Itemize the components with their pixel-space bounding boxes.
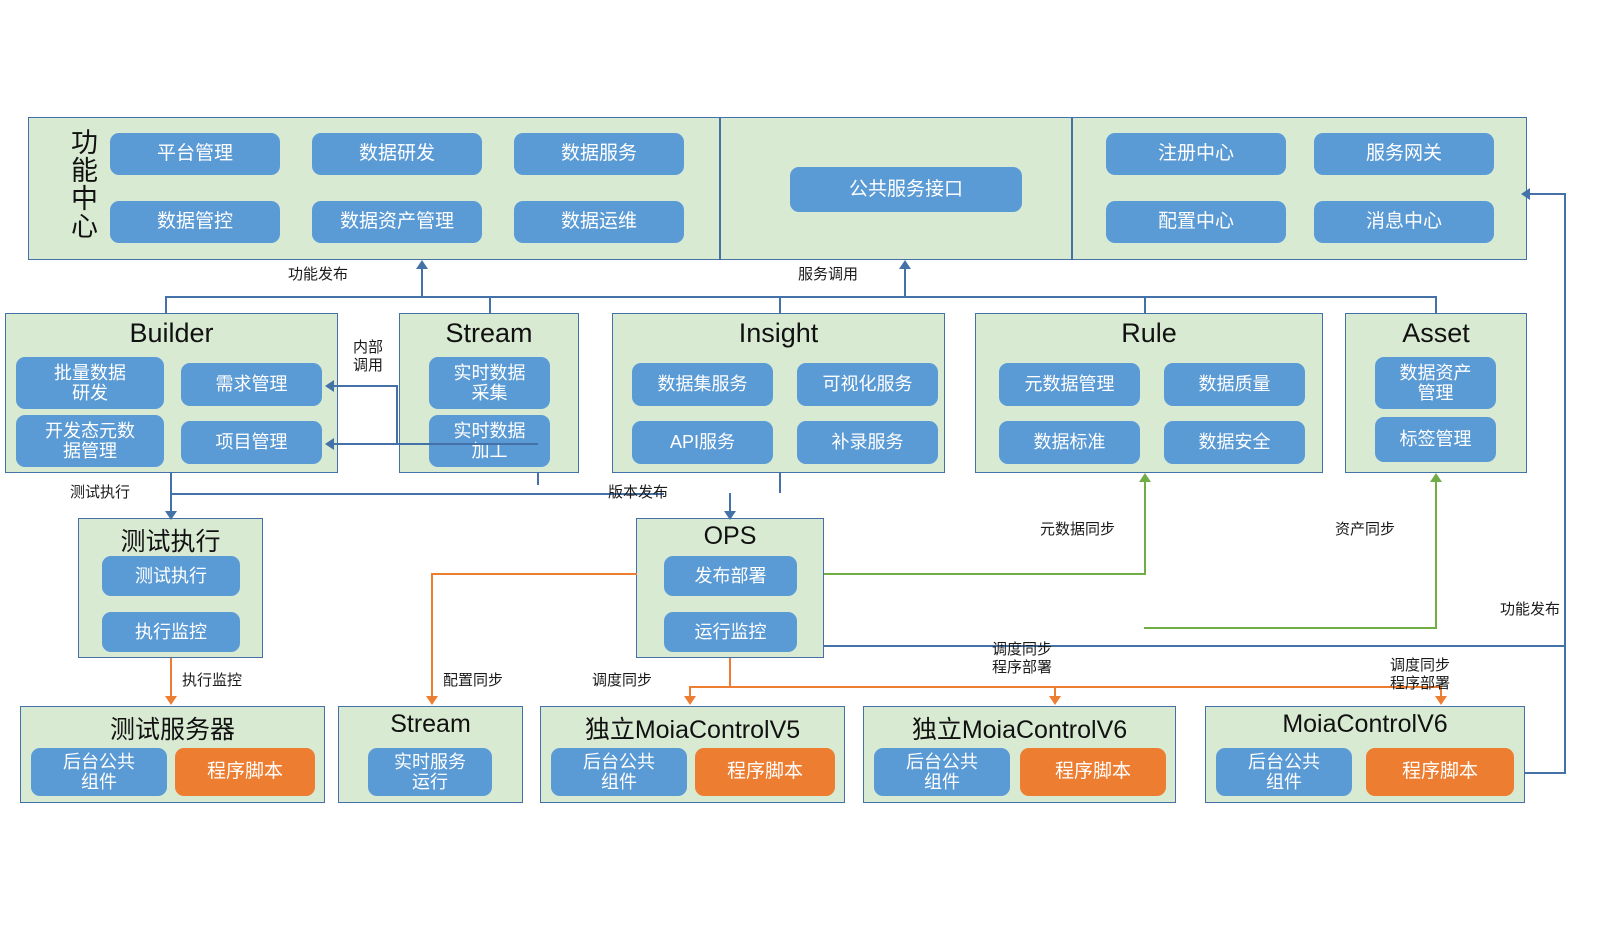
- edge-label-metadata-sync: 元数据同步: [1040, 521, 1115, 539]
- chip-dev-metadata-manage[interactable]: 开发态元数 据管理: [16, 415, 164, 467]
- chip-backend-common-2[interactable]: 后台公共 组件: [551, 748, 687, 796]
- server-moia-v6-standalone-title: 独立MoiaControlV6: [864, 710, 1175, 746]
- arrow-feature-publish-up: [416, 260, 428, 269]
- chip-program-script-2[interactable]: 程序脚本: [695, 748, 835, 796]
- chip-service-gateway[interactable]: 服务网关: [1314, 133, 1494, 175]
- chip-run-monitor[interactable]: 运行监控: [664, 612, 797, 652]
- edge-label-schedule-sync-deploy: 调度同步 程序部署: [966, 641, 1078, 676]
- arrow-branch-v6s: [1049, 696, 1061, 705]
- arrow-asset-sync: [1430, 473, 1442, 482]
- arrow-ops-down: [724, 511, 736, 520]
- chip-program-script-4[interactable]: 程序脚本: [1366, 748, 1514, 796]
- edge-label-version-publish: 版本发布: [608, 484, 668, 502]
- connector-service-call-up: [904, 268, 906, 297]
- connector-bus-drop-asset: [1435, 296, 1437, 314]
- edge-label-config-sync: 配置同步: [443, 672, 503, 690]
- server-moia-v5-standalone-title: 独立MoiaControlV5: [541, 710, 844, 746]
- chip-realtime-data-process[interactable]: 实时数据 加工: [429, 415, 550, 467]
- connector-bus-drop-rule: [1144, 296, 1146, 314]
- chip-program-script-3[interactable]: 程序脚本: [1020, 748, 1166, 796]
- chip-data-standard[interactable]: 数据标准: [999, 421, 1140, 464]
- chip-backend-common-4[interactable]: 后台公共 组件: [1216, 748, 1352, 796]
- chip-data-dev[interactable]: 数据研发: [312, 133, 482, 175]
- chip-publish-deploy[interactable]: 发布部署: [664, 556, 797, 596]
- arrow-branch-v5: [684, 696, 696, 705]
- arrow-config-sync: [426, 696, 438, 705]
- edge-label-service-call: 服务调用: [798, 266, 858, 284]
- connector-exec-monitor-v: [170, 658, 172, 698]
- chip-message-center[interactable]: 消息中心: [1314, 201, 1494, 243]
- connector-config-sync-h: [431, 573, 637, 575]
- server-test-server-title: 测试服务器: [21, 710, 324, 746]
- edge-label-internal-call: 内部 调用: [341, 339, 395, 374]
- connector-builder-to-test-h: [170, 493, 664, 495]
- chip-requirement-manage[interactable]: 需求管理: [181, 363, 322, 406]
- arrow-internal-call-1: [325, 380, 334, 392]
- connector-internal-call-h2: [334, 443, 538, 445]
- chip-config-center[interactable]: 配置中心: [1106, 201, 1286, 243]
- chip-test-execute[interactable]: 测试执行: [102, 556, 240, 596]
- chip-data-asset-manage[interactable]: 数据资产管理: [312, 201, 482, 243]
- connector-right-feature-h2: [1530, 193, 1566, 195]
- chip-batch-data-dev[interactable]: 批量数据 研发: [16, 357, 164, 409]
- chip-metadata-manage[interactable]: 元数据管理: [999, 363, 1140, 406]
- connector-stream-down-internal: [537, 473, 539, 485]
- chip-tag-manage[interactable]: 标签管理: [1375, 417, 1496, 462]
- chip-data-service[interactable]: 数据服务: [514, 133, 684, 175]
- connector-ops-trunk-h: [689, 686, 1441, 688]
- chip-program-script-1[interactable]: 程序脚本: [175, 748, 315, 796]
- function-center-title: 功能中心: [63, 128, 102, 252]
- module-test-exec-title: 测试执行: [79, 522, 262, 558]
- module-builder-title: Builder: [6, 318, 337, 349]
- chip-platform-manage[interactable]: 平台管理: [110, 133, 280, 175]
- chip-data-security[interactable]: 数据安全: [1164, 421, 1305, 464]
- module-ops-title: OPS: [637, 522, 823, 551]
- server-stream-title: Stream: [339, 710, 522, 739]
- chip-backend-common-1[interactable]: 后台公共 组件: [31, 748, 167, 796]
- chip-registry-center[interactable]: 注册中心: [1106, 133, 1286, 175]
- arrow-exec-monitor: [165, 696, 177, 705]
- architecture-diagram: 功能中心 平台管理 数据研发 数据服务 数据管控 数据资产管理 数据运维 公共服…: [0, 0, 1611, 940]
- chip-data-govern[interactable]: 数据管控: [110, 201, 280, 243]
- connector-right-feature-v: [1564, 193, 1566, 646]
- chip-realtime-data-collect[interactable]: 实时数据 采集: [429, 357, 550, 409]
- chip-realtime-service-run[interactable]: 实时服务 运行: [368, 748, 492, 796]
- arrow-service-call-up: [899, 260, 911, 269]
- connector-bus-top: [165, 296, 1436, 298]
- connector-metadata-sync-v: [1144, 482, 1146, 574]
- chip-project-manage[interactable]: 项目管理: [181, 421, 322, 464]
- module-insight-title: Insight: [613, 318, 944, 349]
- arrow-internal-call-2: [325, 438, 334, 450]
- connector-feature-publish-up: [421, 268, 423, 297]
- chip-data-asset-manage-2[interactable]: 数据资产 管理: [1375, 357, 1496, 409]
- module-asset-title: Asset: [1346, 318, 1526, 349]
- connector-moia-v6-right-v: [1564, 645, 1566, 774]
- connector-metadata-sync-h: [824, 573, 1146, 575]
- connector-asset-sync-h: [1144, 627, 1437, 629]
- edge-label-schedule-sync-deploy-2: 调度同步 程序部署: [1364, 657, 1476, 692]
- connector-config-sync-v: [431, 573, 433, 698]
- edge-label-asset-sync: 资产同步: [1335, 521, 1395, 539]
- chip-api-service[interactable]: API服务: [632, 421, 773, 464]
- chip-backend-common-3[interactable]: 后台公共 组件: [874, 748, 1010, 796]
- chip-visualization-service[interactable]: 可视化服务: [797, 363, 938, 406]
- edge-label-test-execute: 测试执行: [70, 484, 130, 502]
- edge-label-exec-monitor: 执行监控: [182, 672, 242, 690]
- connector-bus-drop-stream: [489, 296, 491, 314]
- arrow-right-feature-publish: [1521, 188, 1530, 200]
- chip-supplement-service[interactable]: 补录服务: [797, 421, 938, 464]
- server-moia-v6-title: MoiaControlV6: [1206, 710, 1524, 739]
- arrow-branch-v6: [1435, 696, 1447, 705]
- connector-insight-down: [779, 473, 781, 493]
- connector-internal-call-h1: [334, 385, 397, 387]
- connector-bus-drop-insight: [779, 296, 781, 314]
- connector-moia-v6-right-h: [1525, 772, 1566, 774]
- module-rule-title: Rule: [976, 318, 1322, 349]
- chip-data-quality[interactable]: 数据质量: [1164, 363, 1305, 406]
- connector-internal-call-v: [396, 385, 398, 444]
- chip-dataset-service[interactable]: 数据集服务: [632, 363, 773, 406]
- edge-label-schedule-sync: 调度同步: [592, 672, 652, 690]
- arrow-metadata-sync: [1139, 473, 1151, 482]
- connector-right-feature-h1: [824, 645, 1566, 647]
- chip-data-ops[interactable]: 数据运维: [514, 201, 684, 243]
- chip-public-service-api[interactable]: 公共服务接口: [790, 167, 1022, 212]
- arrow-test-exec-down: [165, 511, 177, 520]
- edge-label-feature-publish-right: 功能发布: [1420, 601, 1560, 619]
- module-stream-title: Stream: [400, 318, 578, 349]
- edge-label-feature-publish-left: 功能发布: [288, 266, 348, 284]
- connector-ops-trunk-v: [729, 658, 731, 687]
- chip-exec-monitor[interactable]: 执行监控: [102, 612, 240, 652]
- connector-builder-to-test-v1: [170, 473, 172, 493]
- connector-bus-drop-builder: [165, 296, 167, 314]
